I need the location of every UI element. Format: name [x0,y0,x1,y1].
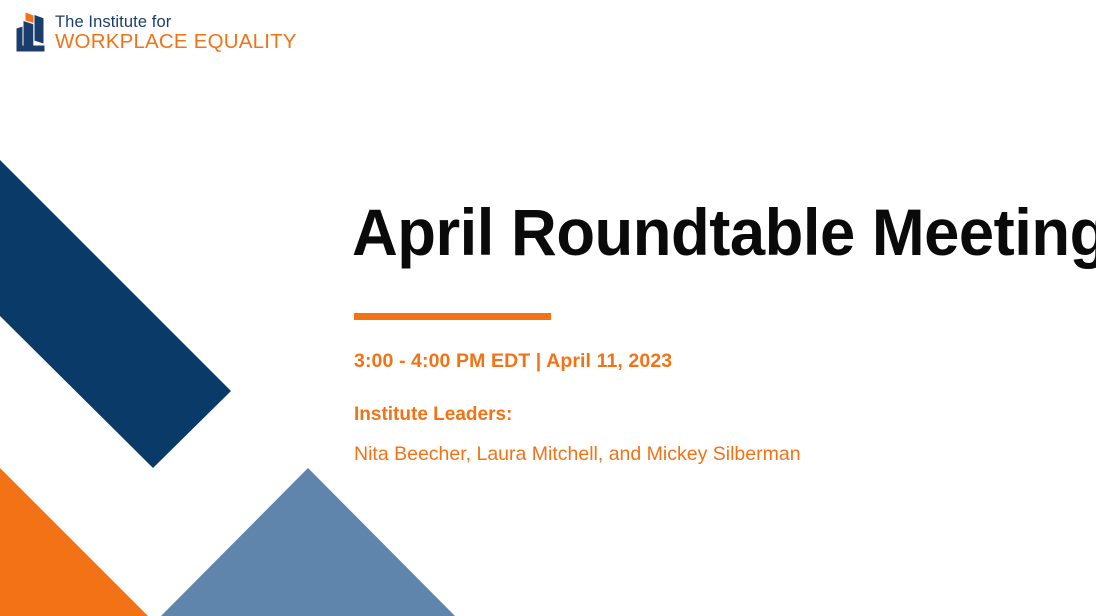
organization-logo: The Institute for WORKPLACE EQUALITY [14,12,297,53]
institute-leaders-names: Nita Beecher, Laura Mitchell, and Mickey… [354,442,1082,466]
orange-divider-rule [354,313,551,320]
steel-blue-triangle [161,468,455,616]
logo-wordmark: The Institute for WORKPLACE EQUALITY [55,12,297,53]
institute-open-book-mark-icon [14,12,48,52]
logo-line-workplace-equality: WORKPLACE EQUALITY [55,31,297,53]
logo-line-the-institute-for: The Institute for [55,13,297,31]
meeting-time-and-date: 3:00 - 4:00 PM EDT | April 11, 2023 [354,349,1082,373]
navy-diagonal-band [0,160,231,468]
slide-title: April Roundtable Meeting [352,196,1053,268]
orange-corner-triangle [0,468,148,616]
institute-leaders-label: Institute Leaders: [354,403,1082,427]
slide-content: April Roundtable Meeting 3:00 - 4:00 PM … [352,196,1082,466]
presentation-slide: The Institute for WORKPLACE EQUALITY Apr… [0,0,1096,616]
